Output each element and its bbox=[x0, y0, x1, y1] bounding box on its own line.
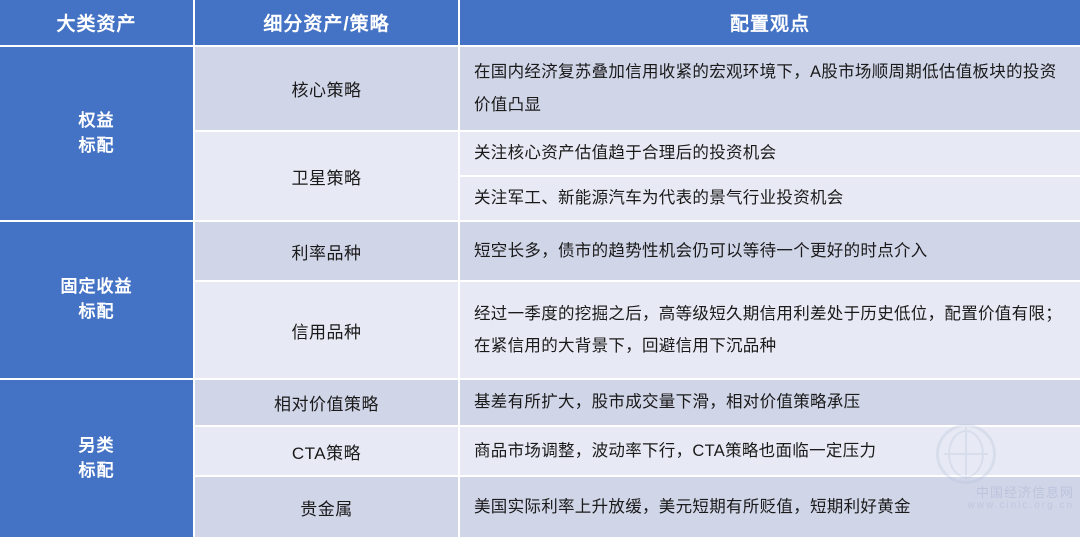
table-row: 权益 标配 核心策略 在国内经济复苏叠加信用收紧的宏观环境下，A股市场顺周期低估… bbox=[0, 47, 1080, 132]
asset-class-cell-fixed-income: 固定收益 标配 bbox=[0, 222, 195, 380]
strategy-cell-precious-metals: 贵金属 bbox=[195, 477, 460, 537]
strategy-cell-credit: 信用品种 bbox=[195, 282, 460, 380]
strategy-cell-core: 核心策略 bbox=[195, 47, 460, 132]
strategy-cell-relative-value: 相对价值策略 bbox=[195, 380, 460, 427]
view-cell-relative-value: 基差有所扩大，股市成交量下滑，相对价值策略承压 bbox=[460, 380, 1080, 427]
asset-class-line-1: 权益 bbox=[79, 111, 115, 130]
asset-class-cell-alternatives: 另类 标配 bbox=[0, 380, 195, 537]
view-cell-satellite-2: 关注军工、新能源汽车为代表的景气行业投资机会 bbox=[460, 177, 1080, 222]
view-cell-satellite-1: 关注核心资产估值趋于合理后的投资机会 bbox=[460, 132, 1080, 177]
strategy-cell-rates: 利率品种 bbox=[195, 222, 460, 282]
header-sub-asset-strategy: 细分资产/策略 bbox=[195, 0, 460, 47]
asset-class-line-1: 另类 bbox=[79, 436, 115, 455]
view-cell-core: 在国内经济复苏叠加信用收紧的宏观环境下，A股市场顺周期低估值板块的投资价值凸显 bbox=[460, 47, 1080, 132]
asset-allocation-table: 大类资产 细分资产/策略 配置观点 权益 标配 核心策略 在国内经济复苏叠加信用… bbox=[0, 0, 1080, 537]
allocation-table-container: 大类资产 细分资产/策略 配置观点 权益 标配 核心策略 在国内经济复苏叠加信用… bbox=[0, 0, 1080, 520]
strategy-cell-satellite: 卫星策略 bbox=[195, 132, 460, 222]
table-header-row: 大类资产 细分资产/策略 配置观点 bbox=[0, 0, 1080, 47]
header-allocation-view: 配置观点 bbox=[460, 0, 1080, 47]
header-asset-class: 大类资产 bbox=[0, 0, 195, 47]
asset-class-line-1: 固定收益 bbox=[61, 277, 133, 296]
table-body: 权益 标配 核心策略 在国内经济复苏叠加信用收紧的宏观环境下，A股市场顺周期低估… bbox=[0, 47, 1080, 537]
asset-class-line-2: 标配 bbox=[79, 136, 115, 155]
asset-class-line-2: 标配 bbox=[79, 461, 115, 480]
asset-class-cell-equity: 权益 标配 bbox=[0, 47, 195, 222]
table-row: 另类 标配 相对价值策略 基差有所扩大，股市成交量下滑，相对价值策略承压 bbox=[0, 380, 1080, 427]
strategy-cell-cta: CTA策略 bbox=[195, 427, 460, 477]
asset-class-line-2: 标配 bbox=[79, 302, 115, 321]
table-header: 大类资产 细分资产/策略 配置观点 bbox=[0, 0, 1080, 47]
view-cell-rates: 短空长多，债市的趋势性机会仍可以等待一个更好的时点介入 bbox=[460, 222, 1080, 282]
view-cell-precious-metals: 美国实际利率上升放缓，美元短期有所贬值，短期利好黄金 bbox=[460, 477, 1080, 537]
view-cell-cta: 商品市场调整，波动率下行，CTA策略也面临一定压力 bbox=[460, 427, 1080, 477]
table-row: 固定收益 标配 利率品种 短空长多，债市的趋势性机会仍可以等待一个更好的时点介入 bbox=[0, 222, 1080, 282]
view-cell-credit: 经过一季度的挖掘之后，高等级短久期信用利差处于历史低位，配置价值有限；在紧信用的… bbox=[460, 282, 1080, 380]
